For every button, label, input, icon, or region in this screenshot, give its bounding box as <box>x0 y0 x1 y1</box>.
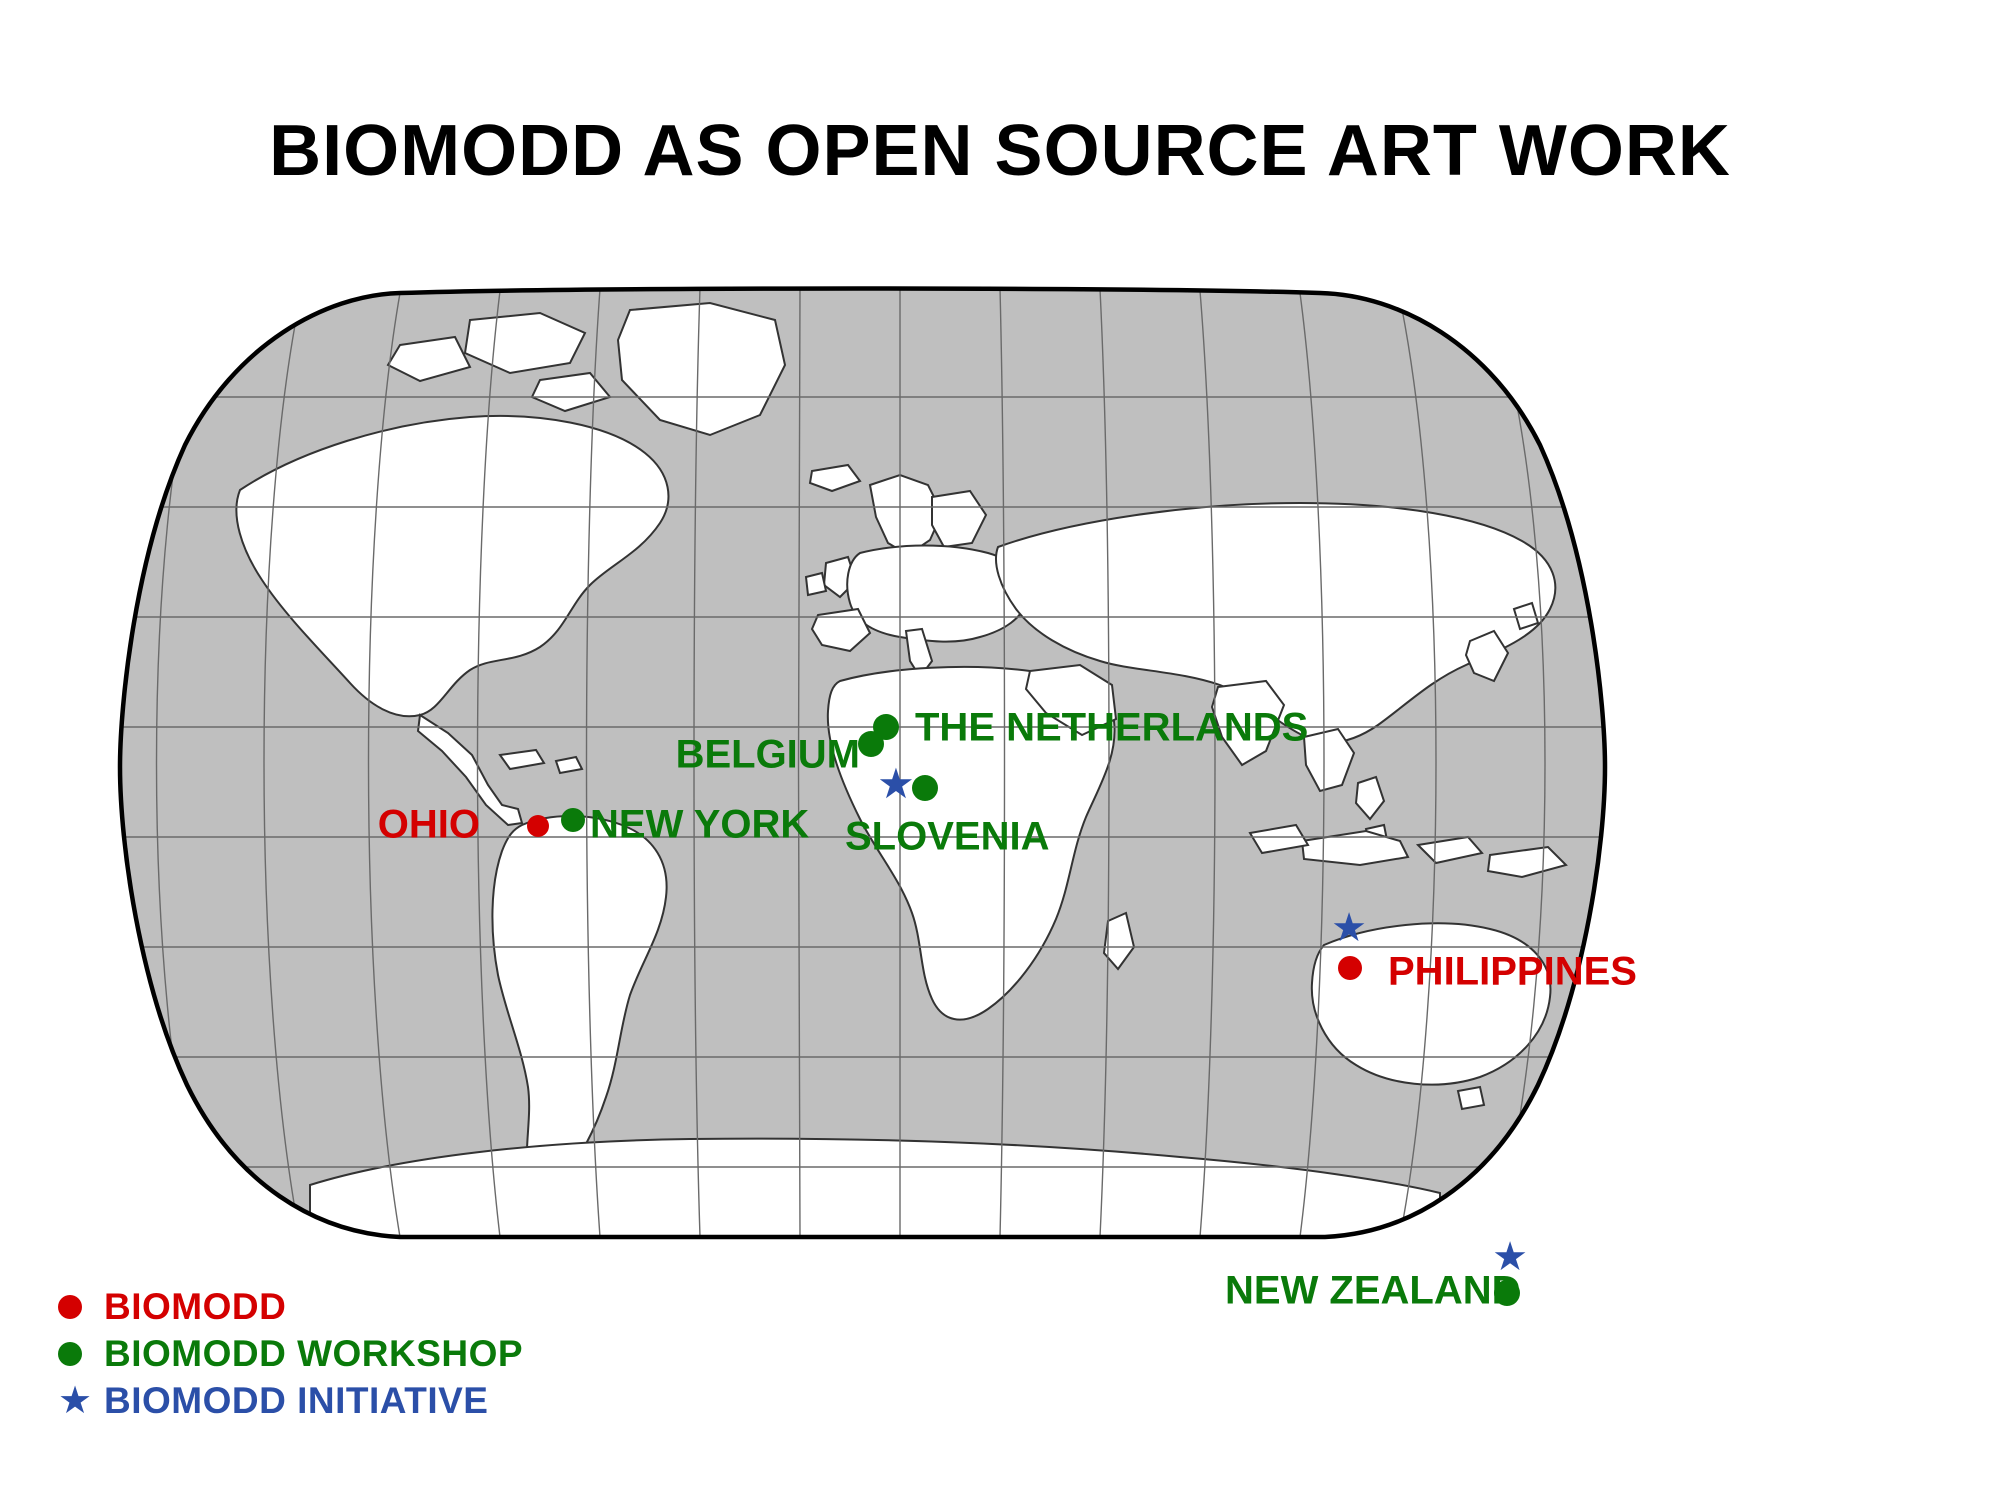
marker-new-zealand-dot <box>1494 1280 1520 1306</box>
page-title: BIOMODD AS OPEN SOURCE ART WORK <box>0 110 2000 192</box>
marker-ohio-dot <box>527 815 549 837</box>
legend-label: BIOMODD INITIATIVE <box>104 1380 488 1422</box>
map-overlay: OHIONEW YORKBELGIUMTHE NETHERLANDSSLOVEN… <box>70 285 1640 1250</box>
marker-philippines-init-star: ★ <box>1331 908 1367 948</box>
map-label-the-netherlands: THE NETHERLANDS <box>915 706 1308 751</box>
marker-new-zealand-init-star: ★ <box>1492 1237 1528 1277</box>
map-label-new-zealand: NEW ZEALAND <box>1225 1269 1521 1314</box>
star-icon: ★ <box>58 1382 92 1420</box>
legend-dot-icon <box>58 1295 104 1319</box>
circle-icon <box>58 1295 82 1319</box>
legend-label: BIOMODD <box>104 1286 286 1328</box>
map-label-ohio: OHIO <box>378 803 480 848</box>
legend-star-icon: ★ <box>58 1382 104 1420</box>
legend: BIOMODDBIOMODD WORKSHOP★BIOMODD INITIATI… <box>58 1283 523 1424</box>
map-label-slovenia: SLOVENIA <box>845 815 1049 860</box>
marker-slovenia-dot <box>912 775 938 801</box>
marker-philippines-dot <box>1338 956 1362 980</box>
legend-item-biomodd: BIOMODD <box>58 1283 523 1330</box>
legend-item-biomodd-workshop: BIOMODD WORKSHOP <box>58 1330 523 1377</box>
world-map: OHIONEW YORKBELGIUMTHE NETHERLANDSSLOVEN… <box>70 285 1640 1250</box>
map-label-belgium: BELGIUM <box>676 733 860 778</box>
marker-new-york-dot <box>561 808 585 832</box>
map-label-new-york: NEW YORK <box>590 803 809 848</box>
map-label-philippines: PHILIPPINES <box>1388 950 1637 995</box>
legend-dot-icon <box>58 1342 104 1366</box>
circle-icon <box>58 1342 82 1366</box>
marker-slovenia-init-star: ★ <box>877 763 915 805</box>
legend-label: BIOMODD WORKSHOP <box>104 1333 523 1375</box>
legend-item-biomodd-initiative: ★BIOMODD INITIATIVE <box>58 1377 523 1424</box>
marker-the-netherlands-dot <box>873 714 899 740</box>
